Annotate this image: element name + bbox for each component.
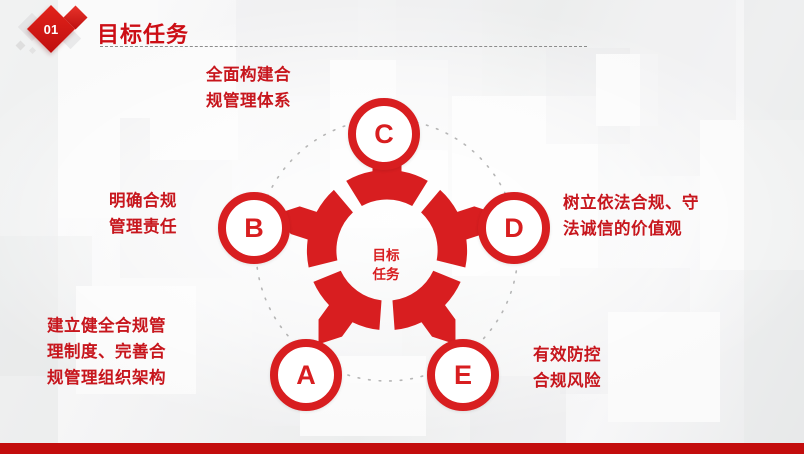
node-label-e: 有效防控 合规风险 [533,342,601,394]
diamond-logo-icon: 01 [12,4,104,60]
node-circle-c[interactable]: C [348,98,420,170]
title-divider [100,46,587,47]
page-title: 目标任务 [97,17,189,49]
node-label-a: 建立健全合规管 理制度、完善合 规管理组织架构 [47,313,166,391]
slide-canvas: 01 目标任务 [0,0,804,454]
node-circle-b[interactable]: B [218,192,290,264]
section-number: 01 [34,12,68,46]
decor-diamond-icon [29,47,36,54]
node-label-c: 全面构建合 规管理体系 [206,62,291,114]
footer-accent-bar [0,443,804,454]
decor-diamond-icon [16,41,26,51]
node-label-b: 明确合规 管理责任 [109,188,177,240]
node-circle-a[interactable]: A [270,339,342,411]
diagram-center-label: 目标 任务 [355,246,417,284]
node-label-d: 树立依法合规、守 法诚信的价值观 [563,190,699,242]
node-circle-d[interactable]: D [478,192,550,264]
node-circle-e[interactable]: E [427,339,499,411]
